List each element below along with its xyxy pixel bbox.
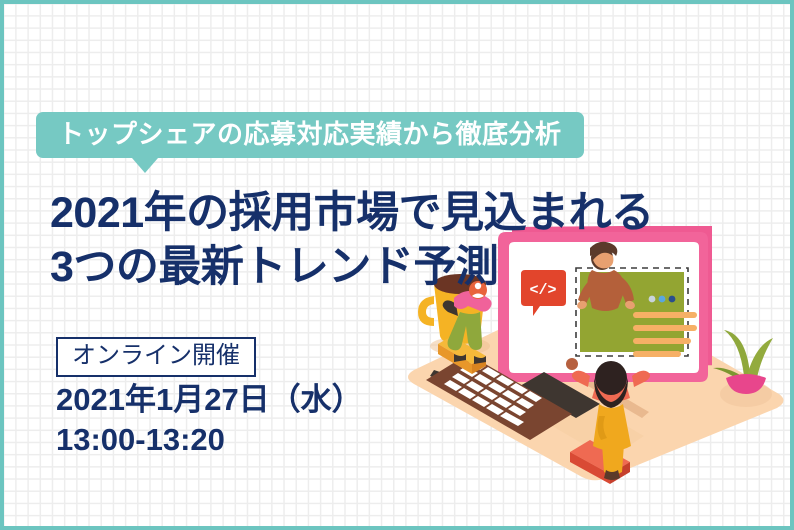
tagline-badge-wrapper: トップシェアの応募対応実績から徹底分析 [36, 112, 584, 158]
title-line-2: 3つの最新トレンド予測 [50, 240, 654, 294]
webinar-banner: トップシェアの応募対応実績から徹底分析 2021年の採用市場で見込まれる 3つの… [0, 0, 794, 530]
event-datetime: 2021年1月27日（水） 13:00-13:20 [56, 380, 363, 459]
badge-tail-icon [132, 158, 158, 173]
tagline-badge: トップシェアの応募対応実績から徹底分析 [36, 112, 584, 158]
event-format-badge: オンライン開催 [56, 337, 256, 377]
title-line-1: 2021年の採用市場で見込まれる [50, 186, 654, 240]
page-title: 2021年の採用市場で見込まれる 3つの最新トレンド予測 [50, 186, 654, 294]
event-time: 13:00-13:20 [56, 420, 363, 460]
event-date: 2021年1月27日（水） [56, 380, 363, 420]
plant-illustration [713, 330, 773, 407]
